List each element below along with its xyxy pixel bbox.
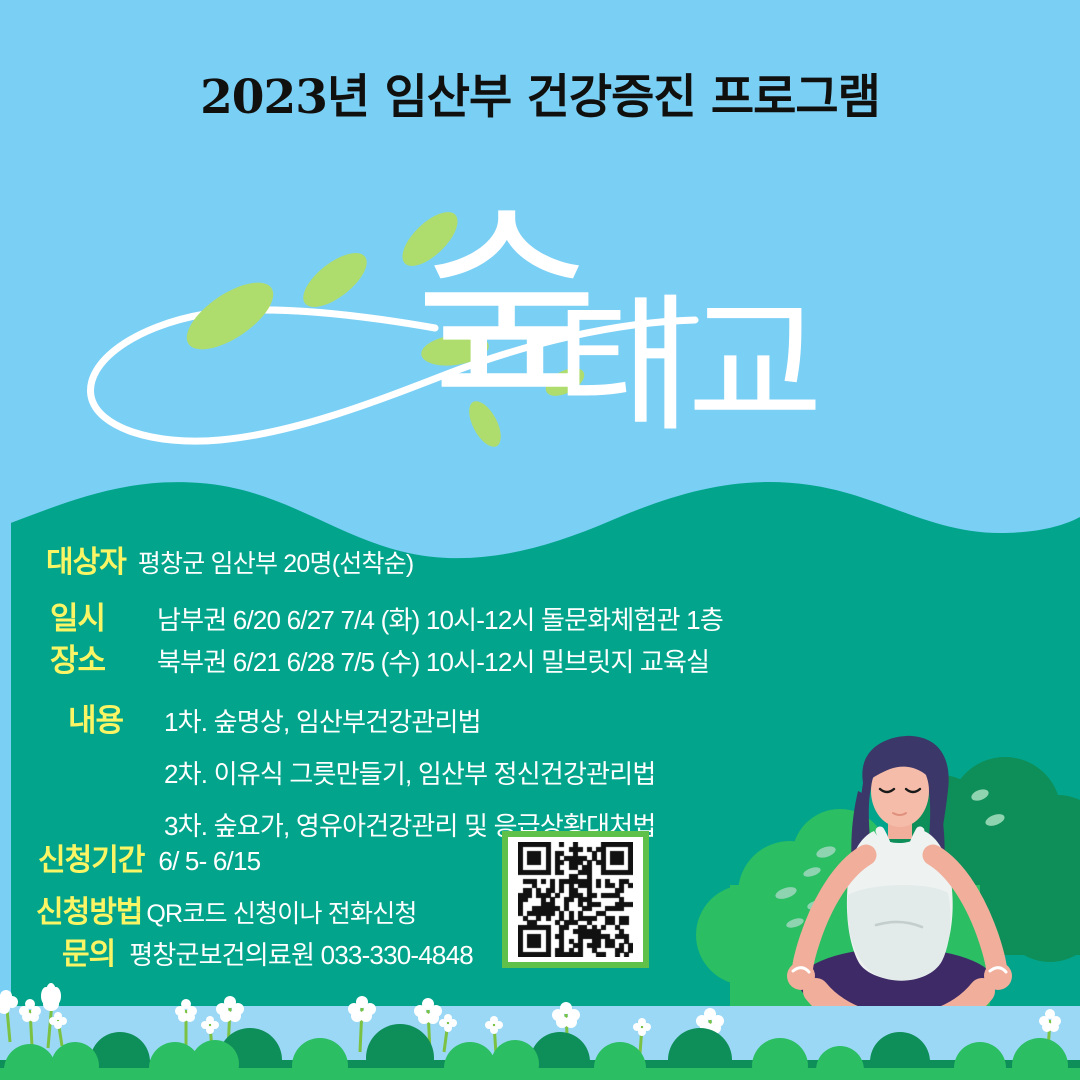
value-when: 남부권 6/20 6/27 7/4 (화) 10시-12시 돌문화체험관 1층 xyxy=(157,600,723,637)
logo-char-sub: 태교 xyxy=(555,292,819,440)
info-row-contact: 문의 평창군보건의료원 033-330-4848 xyxy=(62,929,473,973)
qr-code-frame[interactable] xyxy=(502,831,649,968)
info-row-where: 장소 북부권 6/21 6/28 7/5 (수) 10시-12시 밀브릿지 교육… xyxy=(50,635,709,680)
qr-code-inner[interactable] xyxy=(508,837,643,962)
qr-code-icon[interactable] xyxy=(518,842,633,957)
label-when: 일시 xyxy=(50,593,136,638)
info-row-when: 일시 남부권 6/20 6/27 7/4 (화) 10시-12시 돌문화체험관 … xyxy=(50,593,723,638)
value-period: 6/ 5- 6/15 xyxy=(158,846,260,877)
logo-block: 숲 태교 xyxy=(0,196,1080,486)
info-row-period: 신청기간 6/ 5- 6/15 xyxy=(38,835,260,879)
label-contact: 문의 xyxy=(62,929,115,973)
poster-canvas: 2023년 임산부 건강증진 프로그램 숲 태교 대상자 xyxy=(0,0,1080,1080)
value-contact: 평창군보건의료원 033-330-4848 xyxy=(129,935,473,972)
info-row-howto: 신청방법 QR코드 신청이나 전화신청 xyxy=(36,887,417,931)
label-period: 신청기간 xyxy=(38,835,144,879)
info-row-target: 대상자 평창군 임산부 20명(선착순) xyxy=(46,537,413,581)
bottom-garden-border xyxy=(0,980,1080,1080)
value-where: 북부권 6/21 6/28 7/5 (수) 10시-12시 밀브릿지 교육실 xyxy=(157,642,709,679)
label-where: 장소 xyxy=(50,635,136,680)
value-howto: QR코드 신청이나 전화신청 xyxy=(146,894,416,930)
content-line: 1차. 숲명상, 임산부건강관리법 xyxy=(164,702,655,739)
content-line: 2차. 이유식 그릇만들기, 임산부 정신건강관리법 xyxy=(164,754,655,791)
label-target: 대상자 xyxy=(46,537,126,581)
value-target: 평창군 임산부 20명(선착순) xyxy=(138,544,414,580)
label-content: 내용 xyxy=(68,695,136,740)
label-howto: 신청방법 xyxy=(36,887,142,931)
flower-icon xyxy=(41,983,61,1011)
page-title: 2023년 임산부 건강증진 프로그램 xyxy=(0,58,1080,127)
